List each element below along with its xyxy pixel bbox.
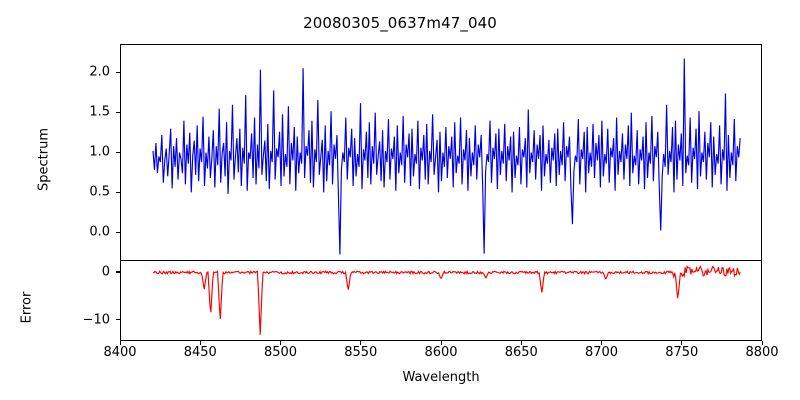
x-tick-label: 8600 (406, 345, 476, 360)
matplotlib-figure: 20080305_0637m47_040 Spectrum Error Wave… (0, 0, 800, 400)
x-tick-label: 8500 (246, 345, 316, 360)
x-tick-label: 8450 (165, 345, 235, 360)
x-tick-label: 8700 (567, 345, 637, 360)
error-line-series (121, 261, 761, 340)
y-tick-label-spectrum: 0.0 (48, 225, 110, 240)
x-tick-label: 8550 (326, 345, 396, 360)
y-tick-label-spectrum: 1.5 (48, 105, 110, 120)
error-panel (120, 260, 762, 341)
x-axis-label: Wavelength (120, 370, 762, 385)
spectrum-panel (120, 44, 762, 260)
page-title: 20080305_0637m47_040 (0, 14, 800, 32)
x-tick-label: 8800 (727, 345, 797, 360)
y-tick-mark (116, 232, 120, 233)
y-axis-label-error: Error (20, 233, 35, 383)
y-tick-label-error: −10 (48, 312, 110, 327)
y-tick-mark (116, 319, 120, 320)
y-tick-mark (116, 112, 120, 113)
y-tick-label-spectrum: 0.5 (48, 185, 110, 200)
x-tick-label: 8750 (647, 345, 717, 360)
y-tick-mark (116, 192, 120, 193)
y-tick-label-spectrum: 2.0 (48, 65, 110, 80)
y-tick-label-spectrum: 1.0 (48, 145, 110, 160)
y-tick-mark (116, 152, 120, 153)
y-tick-mark (116, 72, 120, 73)
y-tick-label-error: 0 (48, 264, 110, 279)
x-tick-label: 8400 (85, 345, 155, 360)
spectrum-line-series (121, 45, 761, 260)
y-tick-mark (116, 271, 120, 272)
x-tick-label: 8650 (486, 345, 556, 360)
